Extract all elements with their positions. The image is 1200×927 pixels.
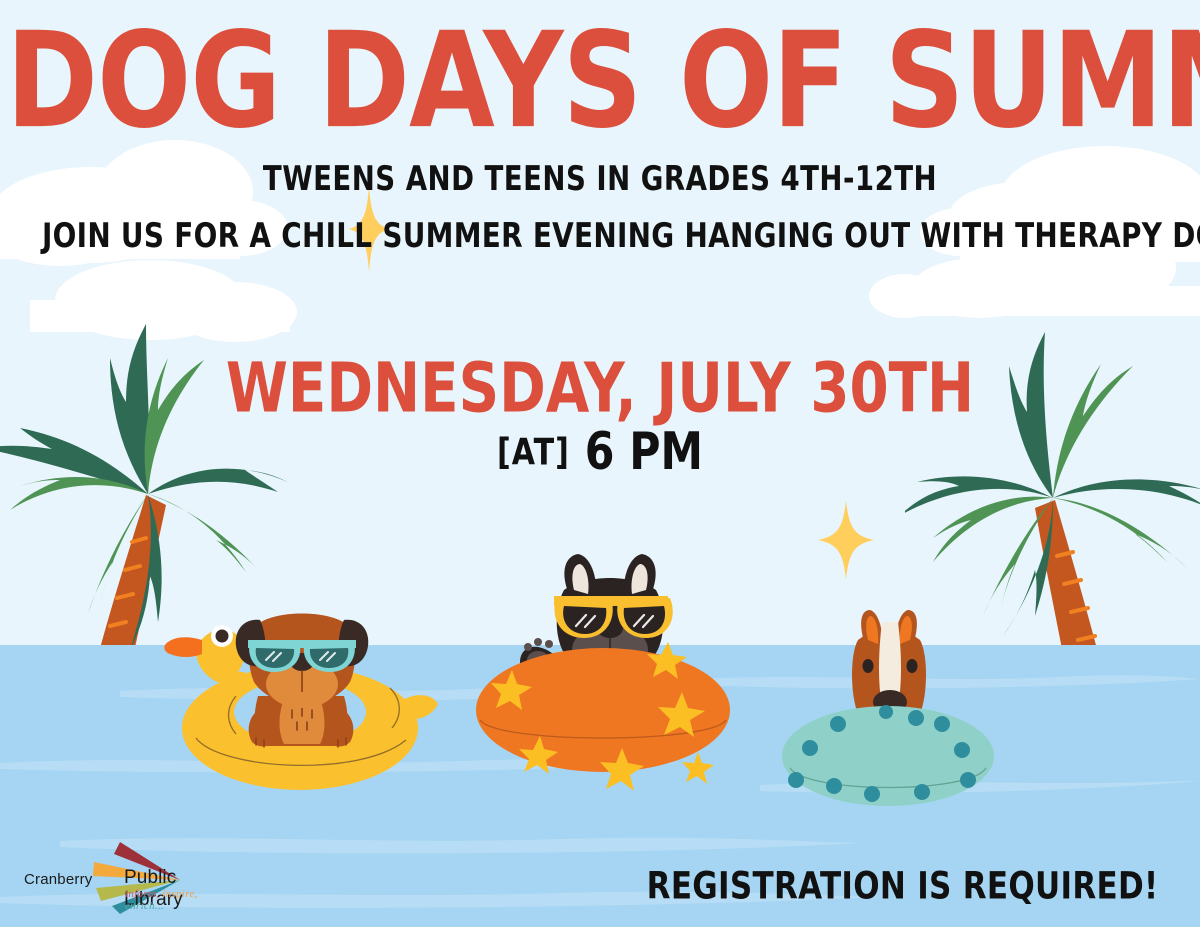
- sparkle-right-icon: [818, 501, 874, 579]
- event-time-bracket: [AT]: [497, 431, 570, 473]
- library-logo: Cranberry Public Library inform, inspire…: [24, 838, 239, 914]
- logo-tagline: inform, inspire, enrich...: [125, 888, 239, 912]
- description-subtitle: JOIN US FOR A CHILL SUMMER EVENING HANGI…: [42, 216, 1158, 256]
- page-title: DOG DAYS OF SUMMER: [6, 14, 1194, 149]
- duck-beak: [164, 637, 202, 657]
- dog-in-duck-float: [140, 588, 440, 796]
- audience-subtitle: TWEENS AND TEENS IN GRADES 4TH-12TH: [48, 160, 1152, 199]
- duck-eye: [216, 630, 229, 643]
- logo-name-cranberry: Cranberry: [24, 871, 93, 888]
- event-time-value: 6 PM: [585, 422, 703, 482]
- registration-note: REGISTRATION IS REQUIRED!: [646, 864, 1158, 908]
- event-time: [AT] 6 PM: [18, 422, 1182, 482]
- event-date: WEDNESDAY, JULY 30TH: [18, 348, 1182, 428]
- duck-tail: [402, 695, 438, 719]
- dog-in-teal-dot-float: [776, 608, 1000, 810]
- dog-eye-right: [907, 659, 918, 673]
- dog-brown-duck: [236, 614, 369, 748]
- orange-star-float: [476, 642, 730, 790]
- logo-tagline-inform: inform,: [125, 888, 159, 900]
- teal-dot-float: [782, 705, 994, 806]
- dog-in-orange-star-float: [472, 552, 734, 790]
- logo-tagline-inspire: inspire,: [162, 888, 197, 900]
- poster-canvas: DOG DAYS OF SUMMER TWEENS AND TEENS IN G…: [0, 0, 1200, 927]
- logo-tagline-enrich: enrich...: [125, 900, 164, 912]
- dog-eye-left: [863, 659, 874, 673]
